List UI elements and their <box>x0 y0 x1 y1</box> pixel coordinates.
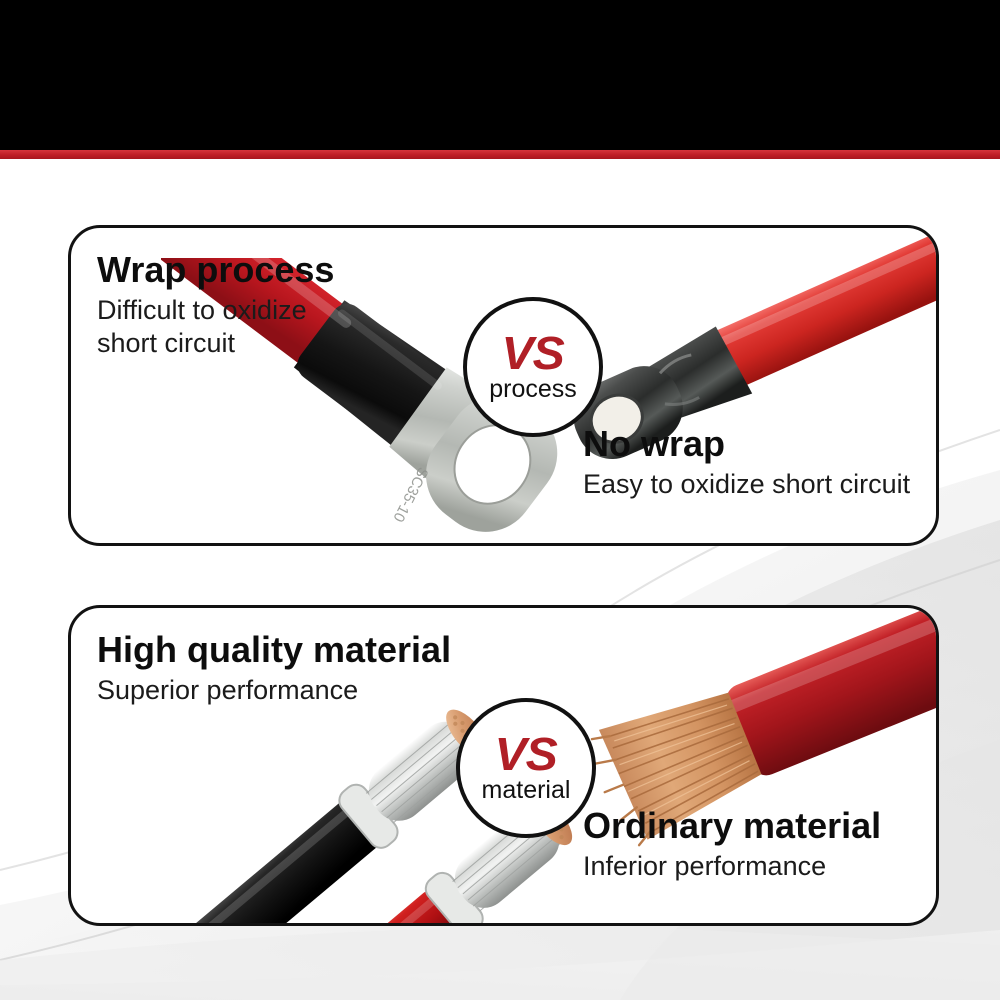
card-top-right-subtext: Easy to oxidize short circuit <box>583 468 910 501</box>
vs-label: VS <box>495 733 557 777</box>
vs-category-label: process <box>489 377 577 402</box>
vs-category-label: material <box>482 778 571 803</box>
vs-label: VS <box>502 332 564 376</box>
card-top-left-heading: Wrap process <box>97 250 334 290</box>
header-bar <box>0 0 1000 150</box>
card-bottom-right-heading: Ordinary material <box>583 806 881 846</box>
svg-text:SC35-10: SC35-10 <box>389 464 431 524</box>
card-bottom-left-text: High quality material Superior performan… <box>97 630 451 707</box>
card-bottom-right-text: Ordinary material Inferior performance <box>583 806 881 883</box>
vs-badge-process: VS process <box>463 297 603 437</box>
card-top-left-subtext: Difficult to oxidize short circuit <box>97 294 334 360</box>
card-top-right-heading: No wrap <box>583 424 910 464</box>
product-comparison-infographic: PRODUCT COMPARISON <box>0 0 1000 1000</box>
card-bottom-left-heading: High quality material <box>97 630 451 670</box>
card-bottom-left-subtext: Superior performance <box>97 674 451 707</box>
header-accent-rule <box>0 150 1000 159</box>
card-top-left-text: Wrap process Difficult to oxidize short … <box>97 250 334 360</box>
card-top-right-text: No wrap Easy to oxidize short circuit <box>583 424 910 501</box>
comparison-card-material: High quality material Superior performan… <box>68 605 939 926</box>
card-bottom-right-subtext: Inferior performance <box>583 850 881 883</box>
comparison-card-wrap-process: SC35-10 Wrap process Difficult to oxidiz… <box>68 225 939 546</box>
vs-badge-material: VS material <box>456 698 596 838</box>
